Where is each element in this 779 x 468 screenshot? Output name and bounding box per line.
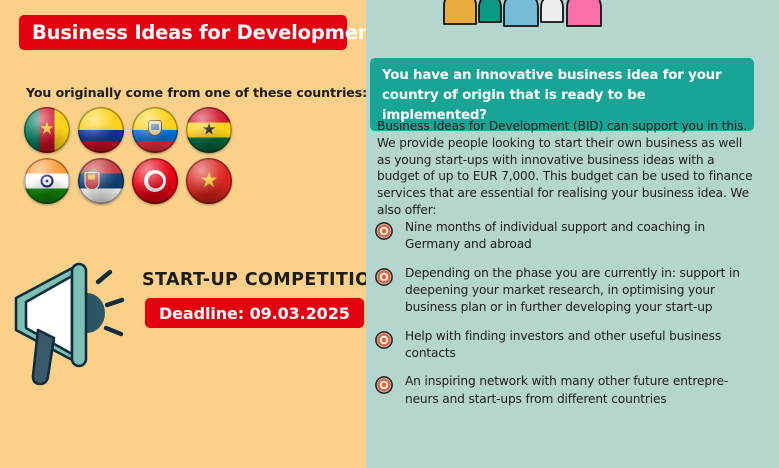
deadline-badge: Deadline: 09.03.2025 xyxy=(145,298,364,328)
countries-label: You originally come from one of these co… xyxy=(26,85,367,100)
megaphone-icon xyxy=(14,258,134,390)
list-item-label: An inspiring network with many other fut… xyxy=(405,373,750,408)
question-banner-text: You have an innovative business idea for… xyxy=(382,68,721,123)
list-item: An inspiring network with many other fut… xyxy=(375,373,773,408)
star-icon: ★ xyxy=(202,122,216,138)
body-paragraph: Business Ideas for Development (BID) can… xyxy=(377,118,757,219)
flag-gloss xyxy=(78,107,124,153)
flag-ecuador xyxy=(132,107,178,153)
list-item-label: Depending on the phase you are currently… xyxy=(405,265,750,317)
coat-of-arms-icon xyxy=(84,172,99,190)
group-of-people-icon xyxy=(438,0,608,30)
flag-vietnam: ★ xyxy=(186,158,232,204)
flag-india xyxy=(24,158,70,204)
poster-root: Business Ideas for Development You origi… xyxy=(0,0,779,468)
target-bullet-icon xyxy=(375,376,393,394)
coat-of-arms-icon xyxy=(148,120,162,136)
page-title: Business Ideas for Development xyxy=(32,21,381,44)
target-bullet-icon xyxy=(375,268,393,286)
ashoka-chakra-icon xyxy=(41,175,54,188)
target-bullet-icon xyxy=(375,331,393,349)
star-icon: ★ xyxy=(153,176,161,185)
list-item: Depending on the phase you are currently… xyxy=(375,265,773,317)
flag-tunisia: ★ xyxy=(132,158,178,204)
benefits-list: Nine months of individual support and co… xyxy=(375,219,773,419)
startup-competition-title: START-UP COMPETITION xyxy=(142,270,386,290)
star-icon: ★ xyxy=(39,121,54,138)
list-item-label: Nine months of individual support and co… xyxy=(405,219,750,254)
flag-ghana: ★ xyxy=(186,107,232,153)
star-icon: ★ xyxy=(200,170,219,191)
right-panel: You have an innovative business idea for… xyxy=(366,0,779,468)
target-bullet-icon xyxy=(375,222,393,240)
deadline-text: Deadline: 09.03.2025 xyxy=(159,304,350,323)
flag-ring xyxy=(78,107,124,153)
flag-colombia xyxy=(78,107,124,153)
flag-cameroon: ★ xyxy=(24,107,70,153)
flag-grid: ★ ★ xyxy=(24,107,240,209)
list-item-label: Help with finding investors and other us… xyxy=(405,328,750,363)
list-item: Help with finding investors and other us… xyxy=(375,328,773,363)
flag-serbia xyxy=(78,158,124,204)
startup-competition-block: START-UP COMPETITION Deadline: 09.03.202… xyxy=(10,250,360,400)
list-item: Nine months of individual support and co… xyxy=(375,219,773,254)
left-panel: Business Ideas for Development You origi… xyxy=(0,0,366,468)
page-title-badge: Business Ideas for Development xyxy=(19,15,347,50)
